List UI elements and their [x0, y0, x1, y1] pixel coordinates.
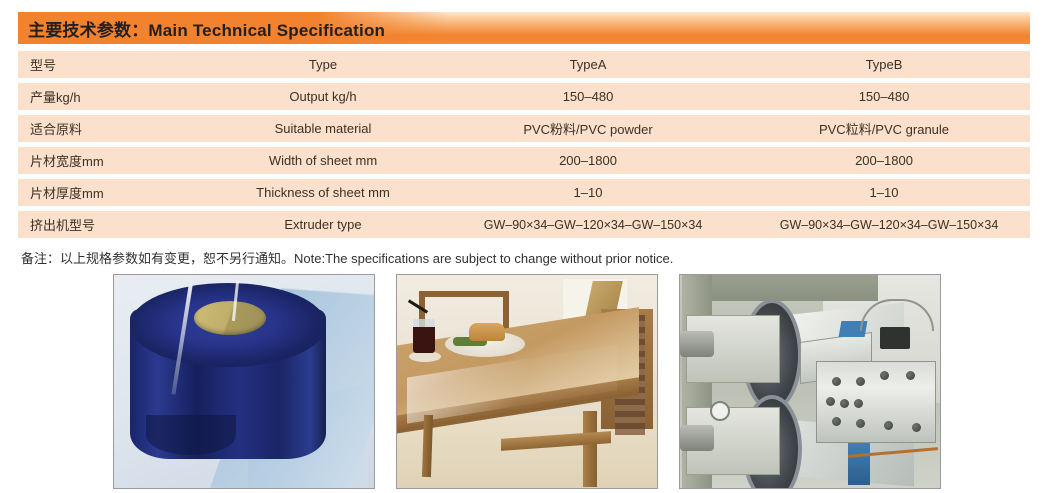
- photo-dining-table-pvc-cover: [396, 274, 658, 489]
- specification-note: 备注：以上规格参数如有变更，恕不另行通知。Note:The specificat…: [21, 248, 673, 267]
- page-title: 主要技术参数：Main Technical Specification: [28, 16, 385, 41]
- cell-label-en: Output kg/h: [208, 89, 438, 104]
- spec-sheet-page: 主要技术参数：Main Technical Specification 型号 T…: [0, 0, 1050, 493]
- bolt: [856, 377, 865, 386]
- table-row: 适合原料 Suitable material PVC粉料/PVC powder …: [18, 115, 1030, 142]
- specification-table: 型号 Type TypeA TypeB 产量kg/h Output kg/h 1…: [18, 51, 1030, 243]
- bolt: [906, 371, 915, 380]
- cell-label-en: Type: [208, 57, 438, 72]
- table-leg-right: [583, 411, 597, 487]
- cell-value-type-a: 1–10: [438, 185, 738, 200]
- roll-core: [194, 301, 266, 335]
- cell-value-type-b: PVC粒料/PVC granule: [738, 119, 1030, 138]
- photo-strip: [113, 274, 943, 489]
- cell-label-en: Width of sheet mm: [208, 153, 438, 168]
- bolt: [856, 419, 865, 428]
- bolt: [826, 397, 835, 406]
- bolt: [832, 377, 841, 386]
- bolt: [840, 399, 849, 408]
- table-row: 型号 Type TypeA TypeB: [18, 51, 1030, 78]
- cell-value-type-a: TypeA: [438, 57, 738, 72]
- cell-value-type-a: 200–1800: [438, 153, 738, 168]
- roll-shadow: [146, 415, 236, 455]
- drinking-glass: [413, 319, 435, 353]
- cell-label-cn: 片材厚度mm: [18, 183, 208, 202]
- cell-label-cn: 片材宽度mm: [18, 151, 208, 170]
- table-row: 片材厚度mm Thickness of sheet mm 1–10 1–10: [18, 179, 1030, 206]
- photo-calender-machinery: [679, 274, 941, 489]
- cell-value-type-b: TypeB: [738, 57, 1030, 72]
- food-item: [469, 323, 505, 341]
- table-row: 片材宽度mm Width of sheet mm 200–1800 200–18…: [18, 147, 1030, 174]
- cell-value-type-b: GW–90×34–GW–120×34–GW–150×34: [748, 218, 1030, 232]
- cell-label-cn: 适合原料: [18, 119, 208, 138]
- photo-blue-pvc-film-roll: [113, 274, 375, 489]
- bolt: [832, 417, 841, 426]
- table-row: 产量kg/h Output kg/h 150–480 150–480: [18, 83, 1030, 110]
- cell-label-cn: 挤出机型号: [18, 215, 208, 234]
- cell-value-type-b: 200–1800: [738, 153, 1030, 168]
- cell-label-en: Suitable material: [208, 121, 438, 136]
- bolt: [912, 423, 921, 432]
- cell-value-type-a: 150–480: [438, 89, 738, 104]
- bolt: [854, 399, 863, 408]
- cell-label-en: Extruder type: [208, 217, 438, 232]
- cell-label-en: Thickness of sheet mm: [208, 185, 438, 200]
- cell-label-cn: 产量kg/h: [18, 87, 208, 106]
- cell-value-type-b: 1–10: [738, 185, 1030, 200]
- machine-frame-top: [688, 275, 878, 301]
- cell-value-type-a: GW–90×34–GW–120×34–GW–150×34: [438, 218, 748, 232]
- bolt: [884, 421, 893, 430]
- dial-gauge: [710, 401, 730, 421]
- roller-shaft-lower: [680, 425, 714, 451]
- cell-value-type-b: 150–480: [738, 89, 1030, 104]
- bolt: [880, 371, 889, 380]
- spec-header-bar: 主要技术参数：Main Technical Specification: [18, 12, 1030, 44]
- table-row: 挤出机型号 Extruder type GW–90×34–GW–120×34–G…: [18, 211, 1030, 238]
- cell-value-type-a: PVC粉料/PVC powder: [438, 119, 738, 138]
- cell-label-cn: 型号: [18, 55, 208, 74]
- blue-fitting-lower: [848, 443, 870, 485]
- roller-shaft-upper: [680, 331, 714, 357]
